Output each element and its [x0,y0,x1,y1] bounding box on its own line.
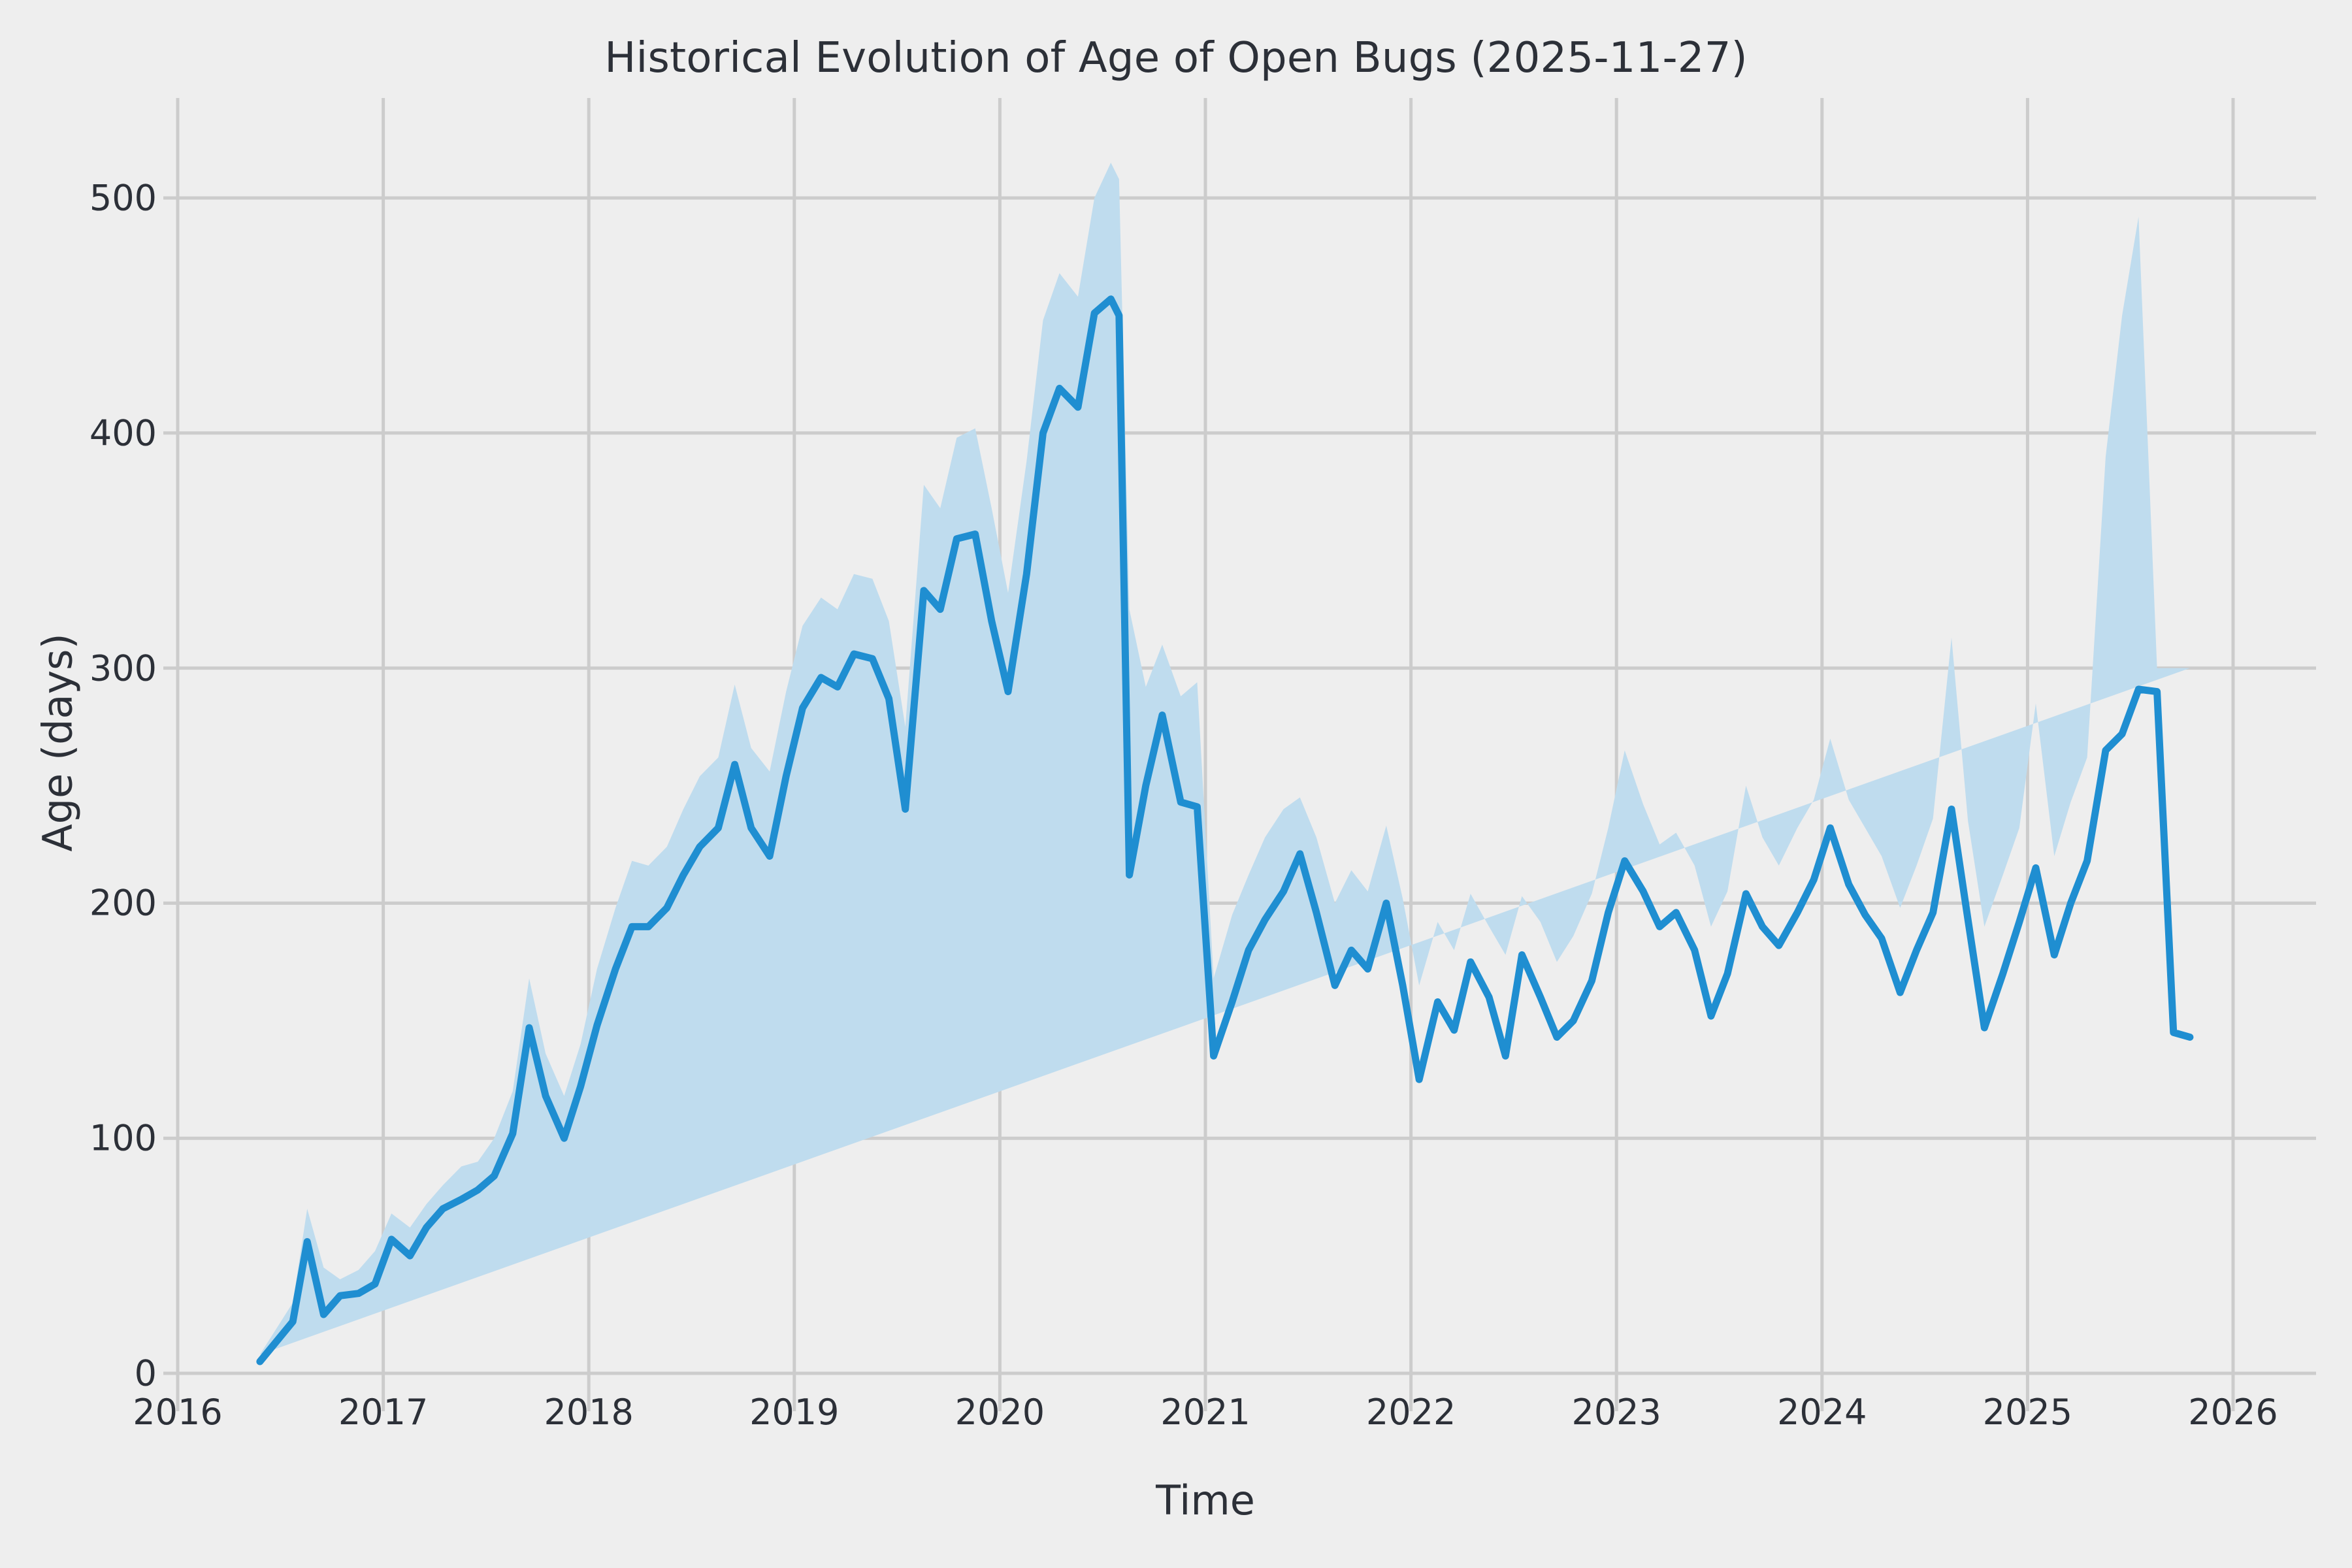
x-tick-label: 2023 [1531,1392,1701,1433]
x-tick-label: 2018 [504,1392,674,1433]
y-tick-label: 400 [26,412,157,453]
x-tick-label: 2020 [915,1392,1085,1433]
x-tick-label: 2024 [1737,1392,1907,1433]
x-tick-label: 2026 [2148,1392,2318,1433]
y-tick-label: 0 [26,1353,157,1394]
x-tick-label: 2022 [1326,1392,1496,1433]
plot-area: 0100200300400500 20162017201820192020202… [0,0,2352,1568]
x-tick-label: 2017 [299,1392,468,1433]
chart-figure: Historical Evolution of Age of Open Bugs… [0,0,2352,1568]
x-tick-label: 2025 [1942,1392,2112,1433]
x-tick-label: 2016 [93,1392,263,1433]
x-tick-label: 2021 [1120,1392,1290,1433]
y-tick-label: 100 [26,1118,157,1159]
x-axis-label: Time [178,1477,2233,1524]
confidence-band [260,163,2190,1354]
y-tick-label: 500 [26,178,157,219]
x-tick-label: 2019 [710,1392,879,1433]
chart-svg [0,0,2352,1568]
y-axis-label: Age (days) [34,534,82,952]
